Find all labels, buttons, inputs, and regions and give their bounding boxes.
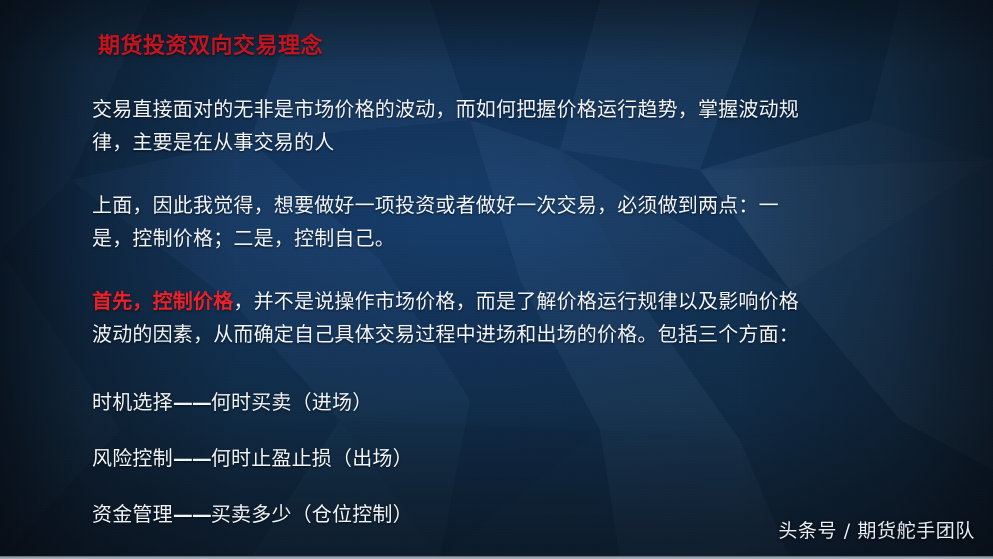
list-item: 风险控制——何时止盈止损（出场） [92,443,812,473]
paragraph-3: 首先，控制价格，并不是说操作市场价格，而是了解价格运行规律以及影响价格波动的因素… [92,285,812,351]
list-item-dash: —— [173,502,211,526]
list-item-dash: —— [173,446,211,470]
highlight-text: 首先，控制价格 [92,289,233,313]
list-item-term: 资金管理 [92,502,173,526]
list-item-detail: 何时止盈止损（出场） [211,446,413,470]
list-item: 资金管理——买卖多少（仓位控制） [92,499,812,529]
list-item-detail: 买卖多少（仓位控制） [211,502,413,526]
watermark: 头条号 / 期货舵手团队 [778,516,975,543]
slide-content: 期货投资双向交易理念 交易直接面对的无非是市场价格的波动，而如何把握价格运行趋势… [92,33,812,529]
list-item-term: 时机选择 [92,390,173,414]
list-item-term: 风险控制 [92,446,173,470]
page-title: 期货投资双向交易理念 [98,33,812,61]
list-item-detail: 何时买卖（进场） [211,390,373,414]
aspect-list: 时机选择——何时买卖（进场） 风险控制——何时止盈止损（出场） 资金管理——买卖… [92,387,812,529]
list-item: 时机选择——何时买卖（进场） [92,387,812,417]
presentation-slide: 期货投资双向交易理念 交易直接面对的无非是市场价格的波动，而如何把握价格运行趋势… [0,0,993,559]
paragraph-1: 交易直接面对的无非是市场价格的波动，而如何把握价格运行趋势，掌握波动规律，主要是… [92,93,812,159]
paragraph-2: 上面，因此我觉得，想要做好一项投资或者做好一次交易，必须做到两点：一是，控制价格… [92,189,812,255]
list-item-dash: —— [173,390,211,414]
